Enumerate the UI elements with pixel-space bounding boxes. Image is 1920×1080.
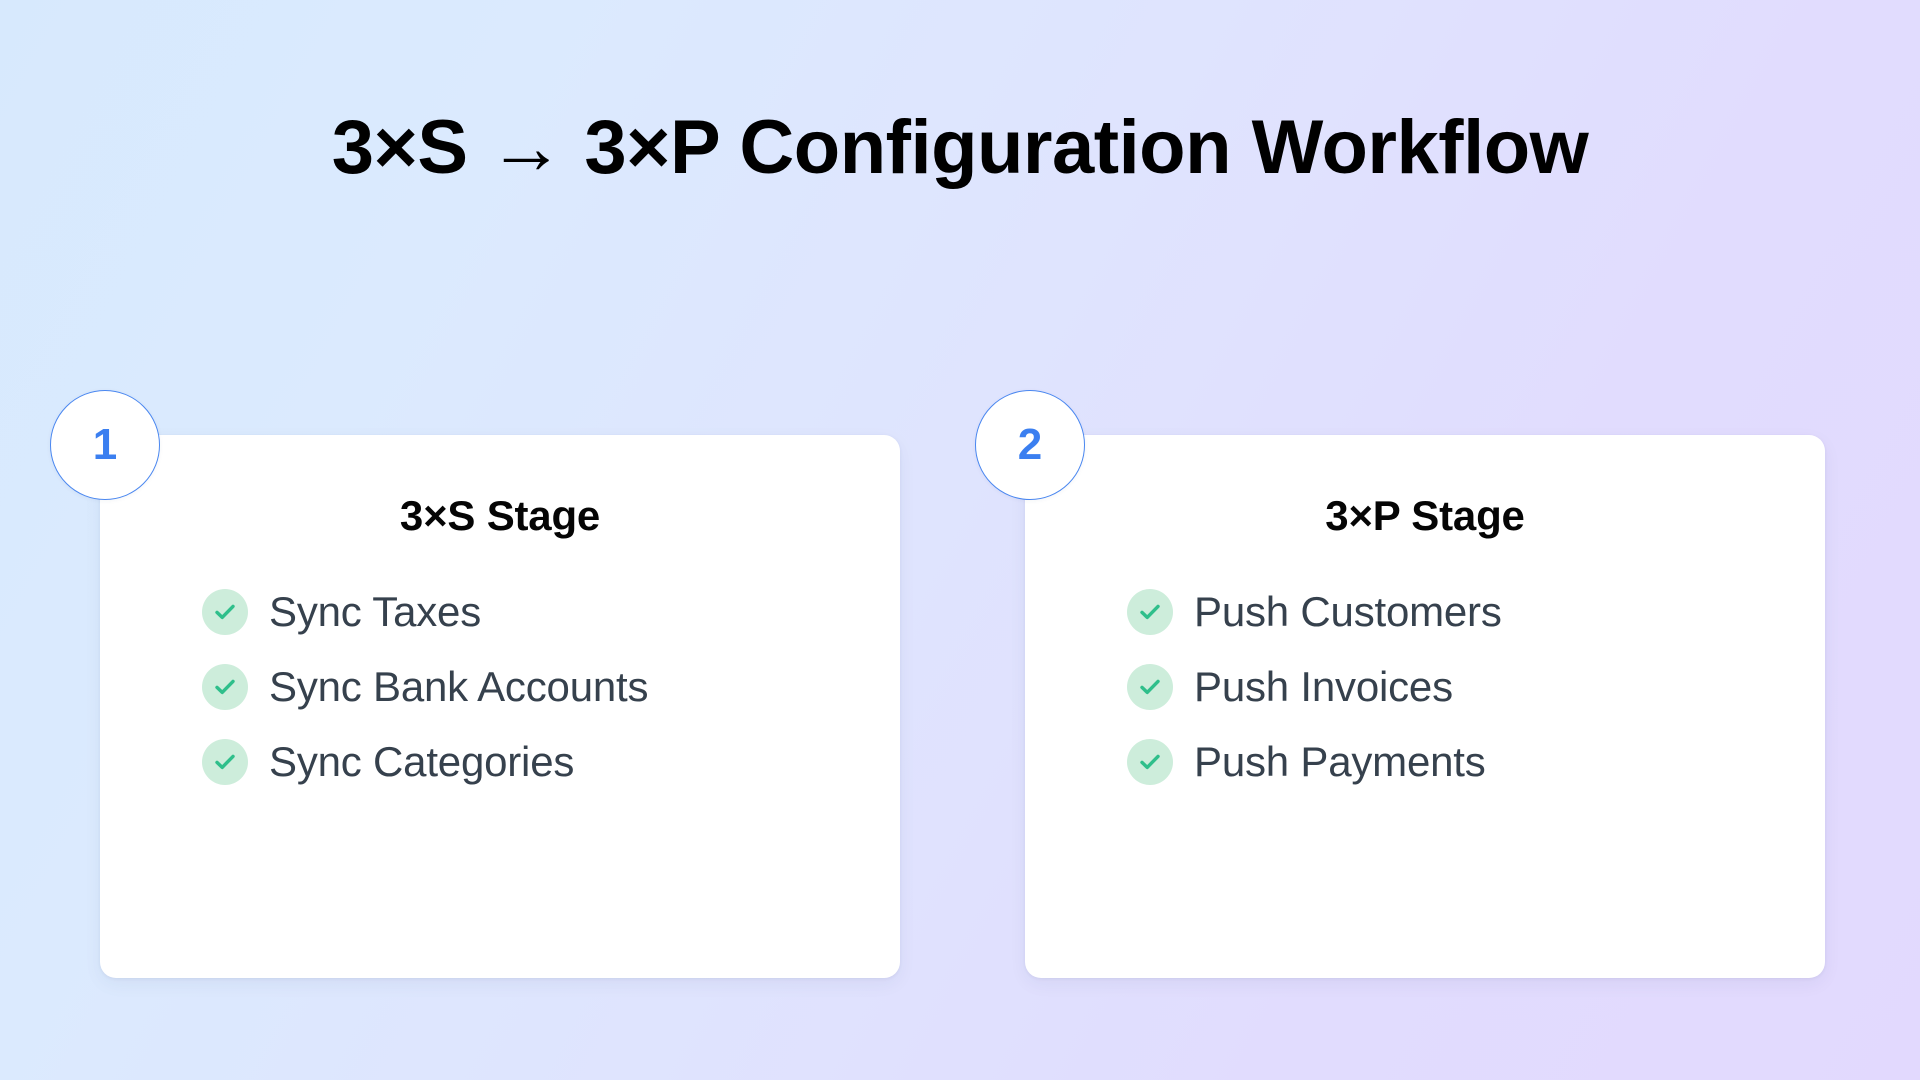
list-item: Sync Taxes bbox=[202, 587, 836, 637]
stage-title-1: 3×S Stage bbox=[164, 493, 836, 539]
list-item-label: Push Customers bbox=[1194, 591, 1502, 633]
stage-title-2: 3×P Stage bbox=[1089, 493, 1761, 539]
stage-item-list-2: Push Customers Push Invoices bbox=[1089, 587, 1761, 787]
list-item: Sync Bank Accounts bbox=[202, 662, 836, 712]
check-icon bbox=[1127, 664, 1173, 710]
stage-number-badge-1: 1 bbox=[50, 390, 160, 500]
check-icon bbox=[1127, 739, 1173, 785]
list-item: Sync Categories bbox=[202, 737, 836, 787]
stage-card-2: 3×P Stage Push Customers bbox=[1025, 435, 1825, 978]
list-item: Push Invoices bbox=[1127, 662, 1761, 712]
stage-number-badge-2: 2 bbox=[975, 390, 1085, 500]
check-icon bbox=[202, 664, 248, 710]
list-item-label: Sync Categories bbox=[269, 741, 574, 783]
check-icon bbox=[202, 739, 248, 785]
workflow-stages: 1 3×S Stage Sync Taxes bbox=[0, 390, 1920, 990]
list-item-label: Sync Bank Accounts bbox=[269, 666, 648, 708]
check-icon bbox=[202, 589, 248, 635]
list-item-label: Push Payments bbox=[1194, 741, 1486, 783]
list-item-label: Push Invoices bbox=[1194, 666, 1453, 708]
list-item-label: Sync Taxes bbox=[269, 591, 481, 633]
check-icon bbox=[1127, 589, 1173, 635]
list-item: Push Customers bbox=[1127, 587, 1761, 637]
stage-item-list-1: Sync Taxes Sync Bank Accounts bbox=[164, 587, 836, 787]
list-item: Push Payments bbox=[1127, 737, 1761, 787]
stage-card-1: 3×S Stage Sync Taxes bbox=[100, 435, 900, 978]
workflow-stage-1: 1 3×S Stage Sync Taxes bbox=[50, 390, 915, 980]
workflow-stage-2: 2 3×P Stage Push Customers bbox=[975, 390, 1840, 980]
page-title: 3×S → 3×P Configuration Workflow bbox=[0, 106, 1920, 190]
